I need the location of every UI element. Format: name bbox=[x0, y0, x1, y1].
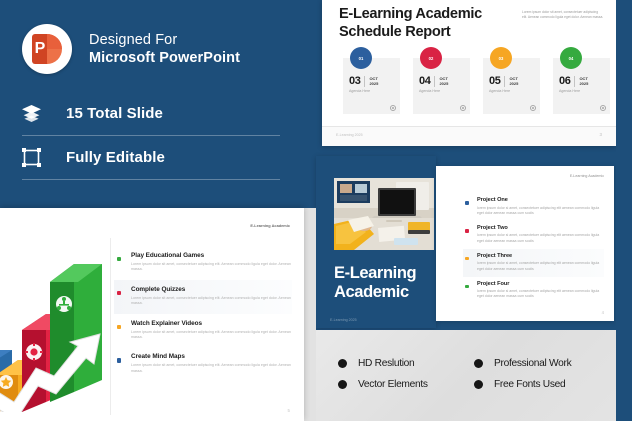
bullet-icon bbox=[465, 285, 469, 289]
schedule-card-day: 04 bbox=[419, 75, 430, 87]
right-edge-strip bbox=[616, 0, 632, 421]
slide-learning-activities[interactable]: E-Learning Academic bbox=[0, 208, 304, 421]
schedule-card-badge: 03 bbox=[490, 47, 512, 69]
feature-badge: Vector Elements bbox=[338, 379, 474, 390]
list-item-desc: Lorem ipsum dolor sit amet, consectetuer… bbox=[131, 296, 292, 307]
feature-badge-label: Free Fonts Used bbox=[494, 379, 565, 390]
promo-row-slide-count: 15 Total Slide bbox=[22, 92, 280, 136]
feature-badge-label: Professional Work bbox=[494, 358, 571, 369]
bullet-dot-icon bbox=[474, 380, 483, 389]
slide-footer: E-Learning 2025 3 bbox=[322, 126, 616, 146]
slide-schedule-report[interactable]: E-Learning Academic Schedule Report Lore… bbox=[322, 0, 616, 146]
bullet-icon bbox=[117, 257, 121, 261]
bullet-icon bbox=[117, 325, 121, 329]
schedule-intro-text: Lorem ipsum dolor sit amet, consectetuer… bbox=[522, 10, 604, 21]
list-item[interactable]: Project One lorem ipsum dolor si amet, c… bbox=[463, 193, 604, 221]
projects-cover-title: E-Learning Academic bbox=[334, 264, 434, 302]
promo-headline-group: P Designed For Microsoft PowerPoint bbox=[22, 24, 240, 74]
footer-brand: E-Learning 2025 bbox=[330, 318, 357, 322]
list-item-desc: Lorem ipsum dolor sit amet, consectetuer… bbox=[131, 262, 292, 273]
schedule-card-day: 05 bbox=[489, 75, 500, 87]
crop-frame-icon bbox=[22, 148, 66, 167]
list-item[interactable]: Complete Quizzes Lorem ipsum dolor sit a… bbox=[114, 280, 292, 314]
list-item-title: Watch Explainer Videos bbox=[131, 320, 292, 327]
footer-page-number: 3 bbox=[600, 132, 602, 137]
schedule-card-more-icon[interactable] bbox=[600, 105, 606, 111]
student-studying-photo bbox=[334, 178, 434, 250]
bullet-dot-icon bbox=[474, 359, 483, 368]
promo-panel: P Designed For Microsoft PowerPoint 15 T… bbox=[0, 0, 316, 208]
slide-brand-label: E-Learning Academic bbox=[570, 174, 604, 178]
schedule-card-year: 2025 bbox=[579, 81, 588, 86]
bullet-icon bbox=[465, 201, 469, 205]
list-item-desc: Lorem ipsum dolor sit amet, consectetuer… bbox=[131, 330, 292, 341]
schedule-card-more-icon[interactable] bbox=[530, 105, 536, 111]
list-item[interactable]: Play Educational Games Lorem ipsum dolor… bbox=[114, 246, 292, 280]
list-item-title: Create Mind Maps bbox=[131, 353, 292, 360]
list-item-desc: lorem ipsum dolor si amet, consectetuer … bbox=[477, 289, 604, 299]
list-item-title: Complete Quizzes bbox=[131, 286, 292, 293]
feature-badge-label: HD Reslution bbox=[358, 358, 414, 369]
projects-content-panel: E-Learning Academic Project One lorem ip… bbox=[436, 166, 614, 321]
3d-bar-chart-graphic bbox=[0, 242, 113, 412]
schedule-card-note: Agenda Here bbox=[413, 87, 470, 93]
activities-list: Play Educational Games Lorem ipsum dolor… bbox=[114, 246, 292, 381]
schedule-card-badge: 02 bbox=[420, 47, 442, 69]
powerpoint-icon: P bbox=[22, 24, 72, 74]
promo-line-2: Microsoft PowerPoint bbox=[89, 49, 240, 68]
list-item[interactable]: Project Four lorem ipsum dolor si amet, … bbox=[463, 277, 604, 305]
schedule-card-note: Agenda Here bbox=[483, 87, 540, 93]
schedule-card-badge: 01 bbox=[350, 47, 372, 69]
promo-row-label: Fully Editable bbox=[66, 149, 165, 166]
schedule-card-list: 01 03 OCT 2025 Agenda Here 02 04 bbox=[343, 58, 610, 114]
list-item[interactable]: Project Two lorem ipsum dolor si amet, c… bbox=[463, 221, 604, 249]
list-item[interactable]: Watch Explainer Videos Lorem ipsum dolor… bbox=[114, 314, 292, 348]
schedule-card-day: 03 bbox=[349, 75, 360, 87]
footer-page-number: 4 bbox=[602, 310, 604, 315]
list-item-desc: lorem ipsum dolor si amet, consectetuer … bbox=[477, 233, 604, 243]
promo-line-1: Designed For bbox=[89, 31, 240, 49]
feature-badge-grid: HD Reslution Professional Work Vector El… bbox=[316, 330, 632, 421]
promo-banner: P Designed For Microsoft PowerPoint 15 T… bbox=[0, 0, 632, 421]
bullet-icon bbox=[117, 358, 121, 362]
bullet-icon bbox=[465, 257, 469, 261]
list-item-title: Project Two bbox=[477, 225, 604, 231]
list-item-title: Project Three bbox=[477, 253, 604, 259]
list-item-title: Project One bbox=[477, 197, 604, 203]
powerpoint-letter: P bbox=[33, 38, 47, 59]
schedule-card-more-icon[interactable] bbox=[390, 105, 396, 111]
schedule-card-note: Agenda Here bbox=[553, 87, 610, 93]
page-title: E-Learning Academic Schedule Report bbox=[339, 6, 509, 41]
schedule-card-badge: 04 bbox=[560, 47, 582, 69]
list-item[interactable]: Project Three lorem ipsum dolor si amet,… bbox=[463, 249, 604, 277]
footer-brand: E-Learning 2025 bbox=[336, 133, 363, 137]
layers-icon bbox=[22, 105, 66, 122]
schedule-card[interactable]: 01 03 OCT 2025 Agenda Here bbox=[343, 58, 400, 114]
list-item-desc: lorem ipsum dolor si amet, consectetuer … bbox=[477, 206, 604, 216]
list-item-title: Play Educational Games bbox=[131, 252, 292, 259]
schedule-card[interactable]: 02 04 OCT 2025 Agenda Here bbox=[413, 58, 470, 114]
schedule-card[interactable]: 03 05 OCT 2025 Agenda Here bbox=[483, 58, 540, 114]
feature-badge: Professional Work bbox=[474, 358, 610, 369]
list-item[interactable]: Create Mind Maps Lorem ipsum dolor sit a… bbox=[114, 347, 292, 381]
list-item-title: Project Four bbox=[477, 281, 604, 287]
projects-list: Project One lorem ipsum dolor si amet, c… bbox=[463, 193, 604, 305]
slide-projects[interactable]: E-Learning Academic E-Learning 2025 E-Le… bbox=[316, 156, 616, 328]
schedule-card-note: Agenda Here bbox=[343, 87, 400, 93]
bullet-icon bbox=[465, 229, 469, 233]
projects-cover-panel: E-Learning Academic E-Learning 2025 bbox=[316, 156, 436, 328]
bullet-dot-icon bbox=[338, 380, 347, 389]
feature-badge: HD Reslution bbox=[338, 358, 474, 369]
promo-row-label: 15 Total Slide bbox=[66, 105, 163, 122]
feature-badge: Free Fonts Used bbox=[474, 379, 610, 390]
schedule-card-year: 2025 bbox=[369, 81, 378, 86]
schedule-card-year: 2025 bbox=[439, 81, 448, 86]
feature-badge-label: Vector Elements bbox=[358, 379, 428, 390]
schedule-card-year: 2025 bbox=[509, 81, 518, 86]
footer-page-number: 5 bbox=[288, 408, 290, 413]
slide-brand-label: E-Learning Academic bbox=[250, 223, 290, 228]
bullet-icon bbox=[117, 291, 121, 295]
promo-row-editable: Fully Editable bbox=[22, 136, 280, 180]
schedule-card[interactable]: 04 06 OCT 2025 Agenda Here bbox=[553, 58, 610, 114]
list-item-desc: Lorem ipsum dolor sit amet, consectetuer… bbox=[131, 363, 292, 374]
schedule-card-day: 06 bbox=[559, 75, 570, 87]
list-item-desc: lorem ipsum dolor si amet, consectetuer … bbox=[477, 261, 604, 271]
schedule-card-more-icon[interactable] bbox=[460, 105, 466, 111]
bullet-dot-icon bbox=[338, 359, 347, 368]
